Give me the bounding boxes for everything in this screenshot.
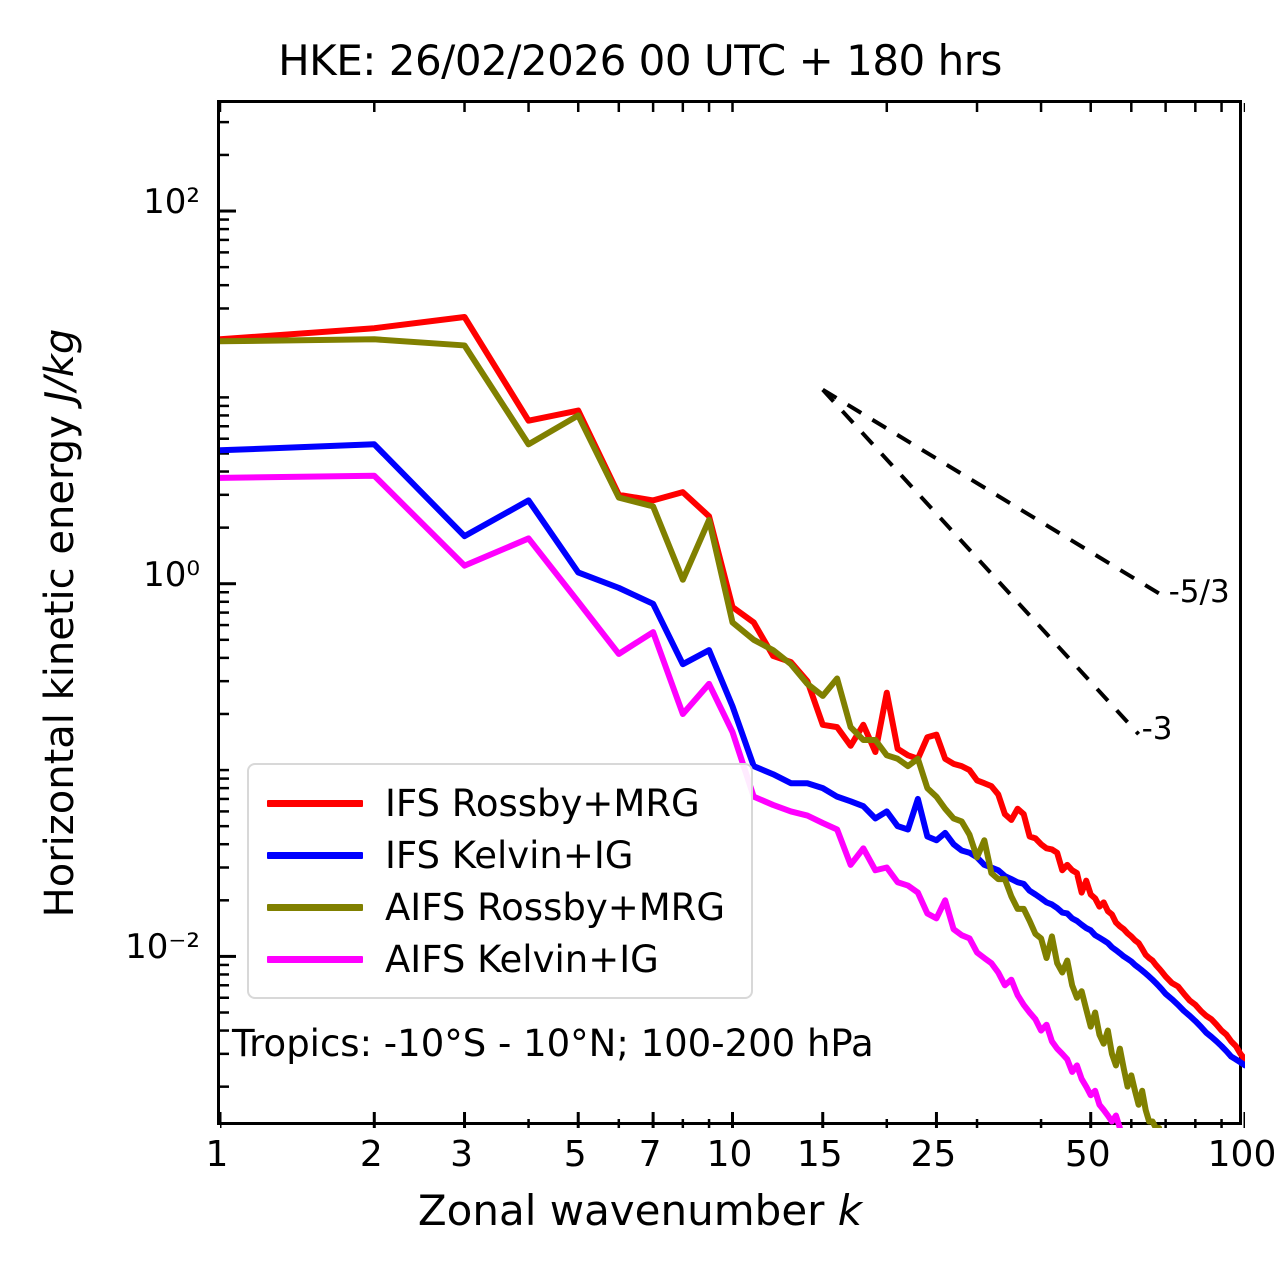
legend[interactable]: IFS Rossby+MRGIFS Kelvin+IGAIFS Rossby+M… <box>247 763 753 999</box>
x-axis-label-main: Zonal wavenumber <box>418 1186 838 1235</box>
region-annotation: Tropics: -10°S - 10°N; 100-200 hPa <box>232 1022 874 1065</box>
legend-item-2[interactable]: AIFS Rossby+MRG <box>249 881 751 933</box>
legend-color-swatch <box>267 956 363 963</box>
legend-color-swatch <box>267 800 363 807</box>
legend-label: AIFS Kelvin+IG <box>385 941 659 978</box>
data-series-layer <box>220 317 1245 1128</box>
x-tick-label: 100 <box>1172 1134 1280 1175</box>
legend-item-3[interactable]: AIFS Kelvin+IG <box>249 933 751 985</box>
y-axis-label: Horizontal kinetic energy J/kg <box>37 123 83 1123</box>
x-axis-label-symbol: k <box>838 1186 862 1235</box>
slope-guide-line <box>823 390 1166 598</box>
legend-label: AIFS Rossby+MRG <box>385 889 725 926</box>
slope-guide-line <box>823 390 1139 735</box>
x-tick-label: 25 <box>863 1134 1003 1175</box>
x-tick-label: 50 <box>1018 1134 1158 1175</box>
y-axis-label-main: Horizontal kinetic energy <box>37 403 83 918</box>
x-tick-label: 1 <box>147 1134 287 1175</box>
legend-label: IFS Kelvin+IG <box>385 837 633 874</box>
legend-color-swatch <box>267 904 363 911</box>
legend-label: IFS Rossby+MRG <box>385 785 700 822</box>
series-line-aifs-rossby-mrg <box>220 339 1159 1128</box>
y-axis-label-units: J/kg <box>37 329 83 403</box>
slope-guide-label: -5/3 <box>1169 574 1230 610</box>
x-axis-label: Zonal wavenumber k <box>0 1186 1280 1235</box>
legend-color-swatch <box>267 852 363 859</box>
slope-guide-label: -3 <box>1142 711 1173 747</box>
chart-page: HKE: 26/02/2026 00 UTC + 180 hrs 10²10⁰1… <box>0 0 1280 1288</box>
slope-guide-lines <box>823 390 1166 735</box>
legend-item-0[interactable]: IFS Rossby+MRG <box>249 777 751 829</box>
legend-item-1[interactable]: IFS Kelvin+IG <box>249 829 751 881</box>
page-title: HKE: 26/02/2026 00 UTC + 180 hrs <box>0 36 1280 85</box>
